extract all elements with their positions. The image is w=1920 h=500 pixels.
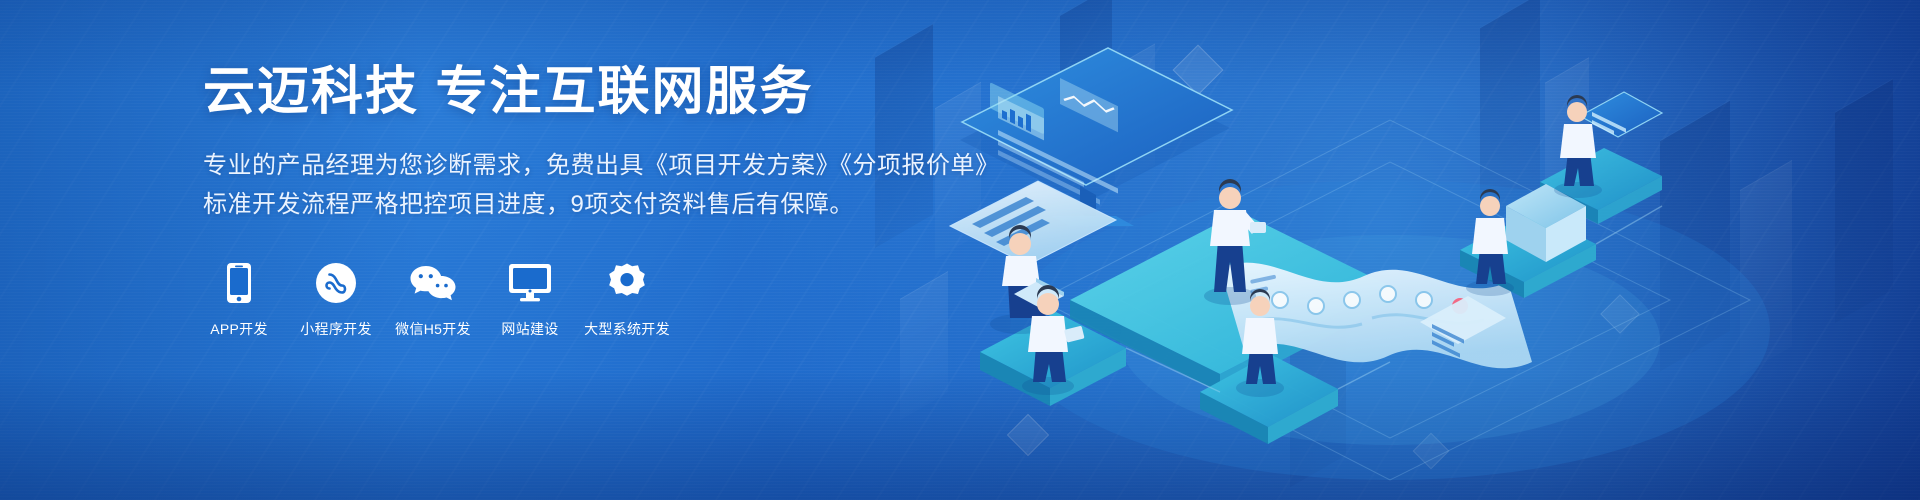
service-item-app[interactable]: APP开发 <box>203 261 275 339</box>
service-label: APP开发 <box>210 319 268 339</box>
page-title: 云迈科技 专注互联网服务 <box>203 63 1103 123</box>
service-label: 大型系统开发 <box>584 319 670 339</box>
gear-icon <box>606 261 648 305</box>
service-label: 小程序开发 <box>300 319 372 339</box>
service-item-mini-program[interactable]: 小程序开发 <box>300 261 372 339</box>
wechat-bubbles-icon <box>409 261 457 305</box>
monitor-icon <box>508 261 552 305</box>
service-label: 微信H5开发 <box>395 319 471 339</box>
banner-content: 云迈科技 专注互联网服务 专业的产品经理为您诊断需求，免费出具《项目开发方案》《… <box>203 63 1103 339</box>
service-label: 网站建设 <box>501 319 558 339</box>
promo-banner: 云迈科技 专注互联网服务 专业的产品经理为您诊断需求，免费出具《项目开发方案》《… <box>0 0 1920 500</box>
service-item-wechat-h5[interactable]: 微信H5开发 <box>397 261 469 339</box>
service-item-website[interactable]: 网站建设 <box>494 261 566 339</box>
subtitle-line-1: 专业的产品经理为您诊断需求，免费出具《项目开发方案》《分项报价单》 <box>203 147 1103 186</box>
mini-program-icon <box>315 261 357 305</box>
service-item-large-system[interactable]: 大型系统开发 <box>591 261 663 339</box>
subtitle-line-2: 标准开发流程严格把控项目进度，9项交付资料售后有保障。 <box>203 186 1103 225</box>
service-list: APP开发 小程序开发 <box>203 261 1103 339</box>
mobile-phone-icon <box>226 261 252 305</box>
